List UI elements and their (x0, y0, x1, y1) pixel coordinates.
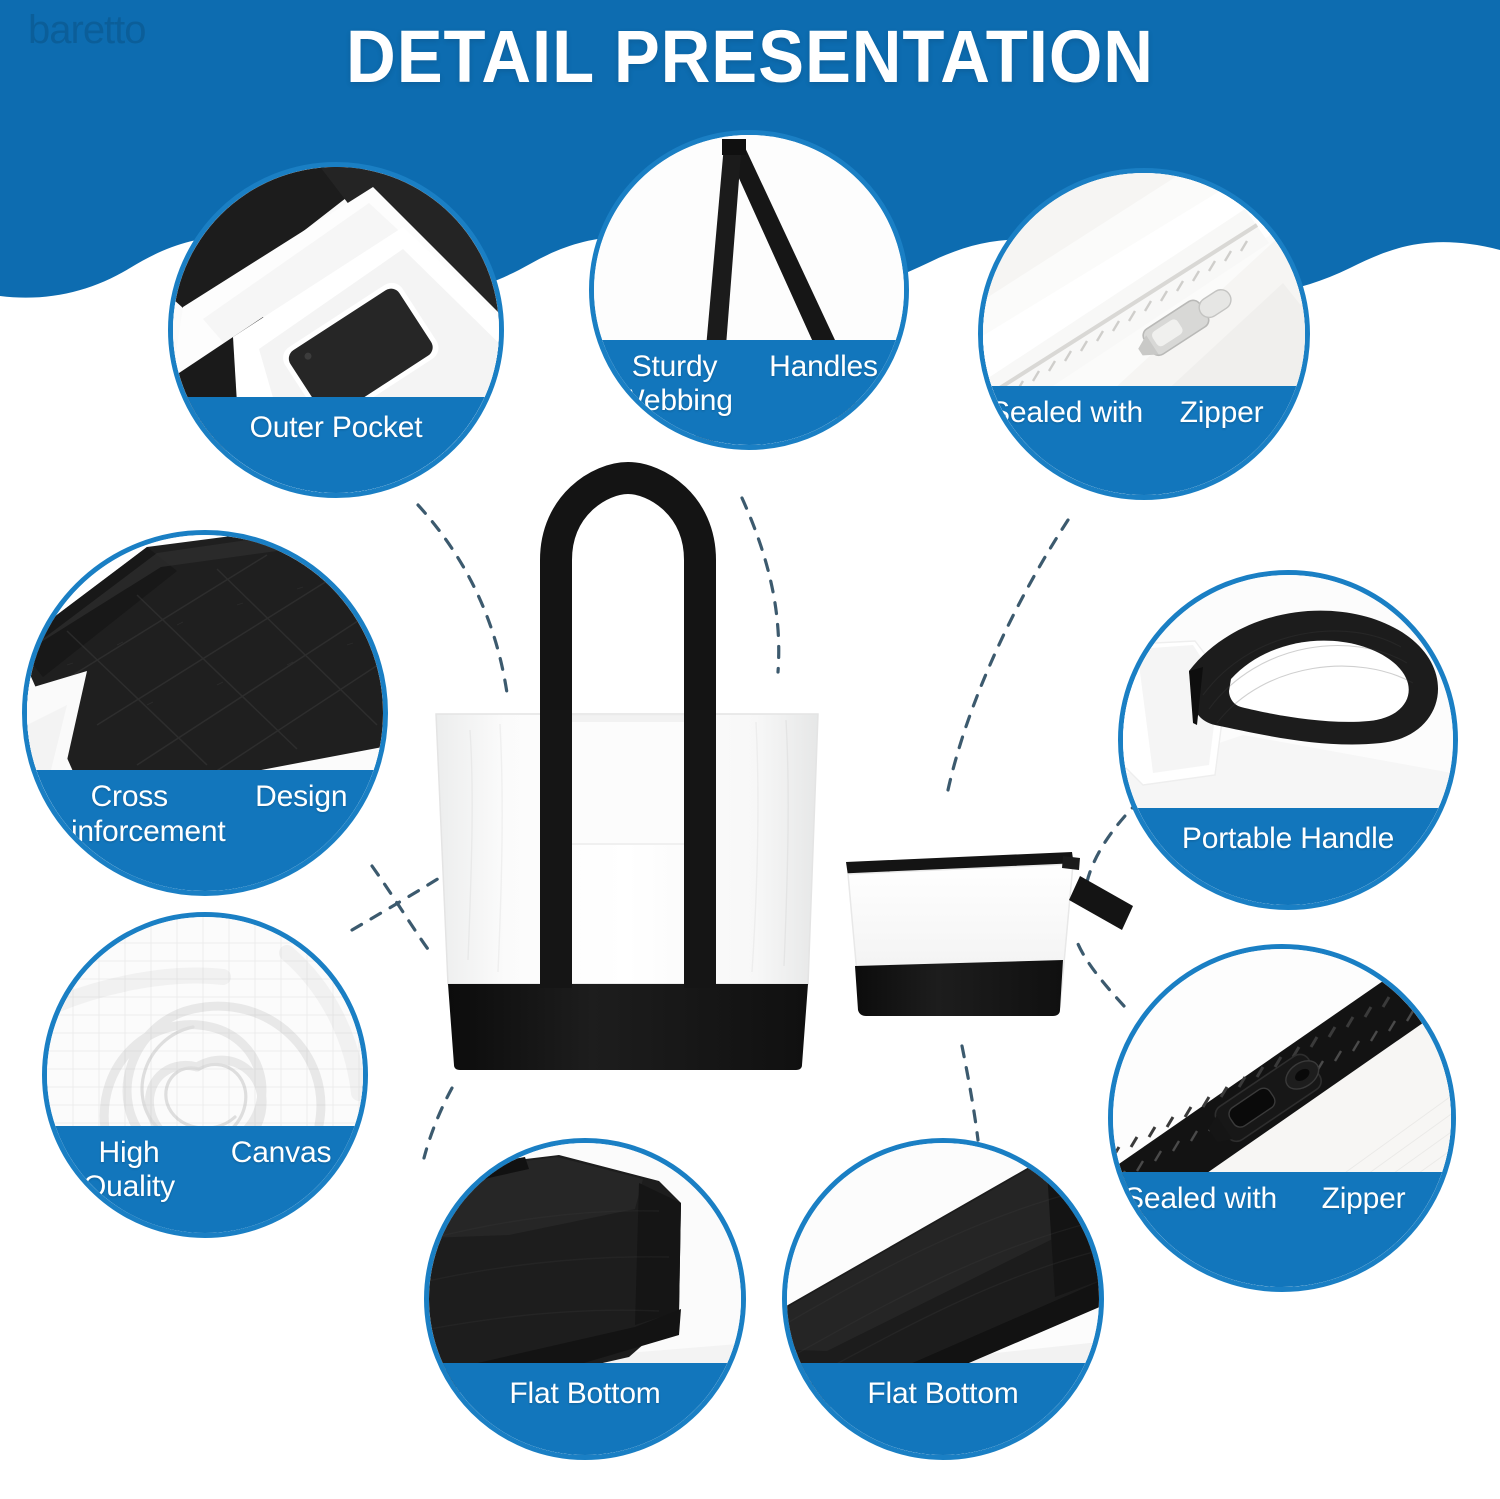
detail-presentation-page: baretto DETAIL PRESENTATION (0, 0, 1500, 1499)
caption-portable-handle: Portable Handle (1123, 808, 1453, 905)
feature-circle-cross-reinforcement-design[interactable]: Cross Reinforcement Design (22, 530, 388, 896)
caption-outer-pocket: Outer Pocket (173, 397, 499, 493)
caption-high-quality-canvas: High Quality Canvas (47, 1126, 363, 1233)
caption-cross-reinforcement-design: Cross Reinforcement Design (27, 770, 383, 891)
caption-sealed-with-zipper-black: Sealed with Zipper (1113, 1172, 1451, 1287)
caption-flat-bottom-tote: Flat Bottom (429, 1363, 741, 1455)
feature-circle-flat-bottom-tote[interactable]: Flat Bottom (424, 1138, 746, 1460)
cosmetic-pouch (846, 852, 1133, 1016)
canvas-tote-bag (436, 478, 818, 1070)
feature-circle-sealed-with-zipper-white[interactable]: Sealed with Zipper (978, 168, 1310, 500)
feature-circle-high-quality-canvas[interactable]: High Quality Canvas (42, 912, 368, 1238)
feature-circle-flat-bottom-pouch[interactable]: Flat Bottom (782, 1138, 1104, 1460)
caption-flat-bottom-pouch: Flat Bottom (787, 1363, 1099, 1455)
feature-circle-portable-handle[interactable]: Portable Handle (1118, 570, 1458, 910)
feature-circle-outer-pocket[interactable]: Outer Pocket (168, 162, 504, 498)
feature-circle-sturdy-webbing-handles[interactable]: Sturdy Webbing Handles (589, 130, 909, 450)
caption-sealed-with-zipper-white: Sealed with Zipper (983, 386, 1305, 495)
caption-sturdy-webbing-handles: Sturdy Webbing Handles (594, 340, 904, 445)
feature-circle-sealed-with-zipper-black[interactable]: Sealed with Zipper (1108, 944, 1456, 1292)
